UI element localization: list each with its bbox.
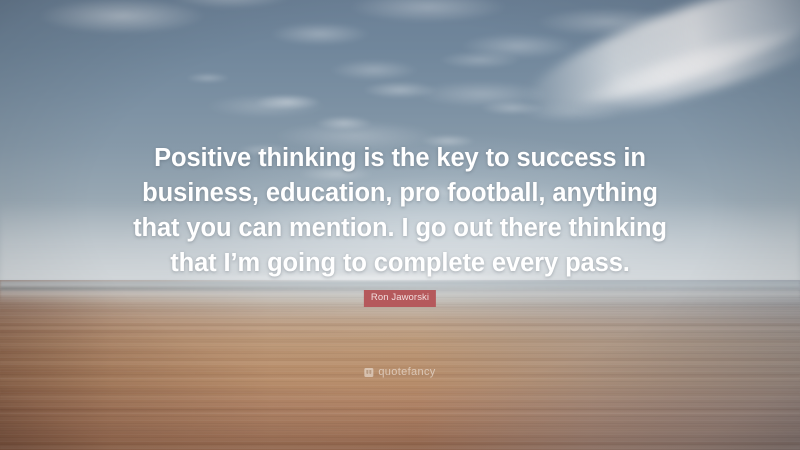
quote-mark-icon bbox=[364, 368, 373, 377]
watermark-label: quotefancy bbox=[378, 366, 435, 378]
quote-text: Positive thinking is the key to success … bbox=[100, 141, 700, 281]
quote-poster: Positive thinking is the key to success … bbox=[0, 0, 800, 450]
author-badge[interactable]: Ron Jaworski bbox=[364, 290, 436, 307]
quote-overlay: Positive thinking is the key to success … bbox=[0, 0, 800, 450]
watermark[interactable]: quotefancy bbox=[364, 366, 435, 378]
